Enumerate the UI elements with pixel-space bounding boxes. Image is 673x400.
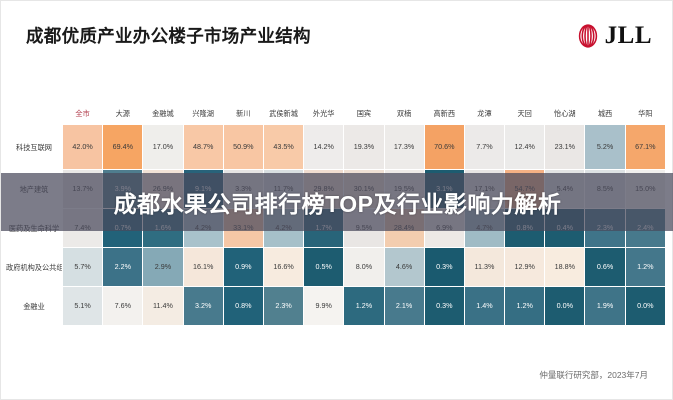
table-row: 金融业5.1%7.6%11.4%3.2%0.8%2.3%9.9%1.2%2.1%…	[6, 287, 665, 325]
heatmap-cell: 0.8%	[224, 287, 263, 325]
cell-value: 67.1%	[626, 143, 665, 150]
cell-value: 0.9%	[224, 263, 263, 270]
heatmap-cell: 7.6%	[103, 287, 142, 325]
heatmap-cell: 2.3%	[264, 287, 303, 325]
cell-value: 0.8%	[224, 302, 263, 309]
cell-value: 18.8%	[545, 263, 584, 270]
cell-value: 48.7%	[184, 143, 223, 150]
slide-header: 成都优质产业办公楼子市场产业结构 JLL	[1, 1, 673, 73]
cell-value: 42.0%	[63, 143, 102, 150]
heatmap-cell: 0.3%	[425, 248, 464, 286]
column-header-10: 龙潭	[465, 104, 504, 124]
heatmap-cell: 1.2%	[505, 287, 544, 325]
heatmap-cell: 11.3%	[465, 248, 504, 286]
heatmap-cell: 0.6%	[585, 248, 624, 286]
heatmap-cell: 2.9%	[143, 248, 182, 286]
cell-value: 70.6%	[425, 143, 464, 150]
cell-value: 43.5%	[264, 143, 303, 150]
column-header-11: 天回	[505, 104, 544, 124]
heatmap-cell: 67.1%	[626, 125, 665, 169]
heatmap-cell: 17.0%	[143, 125, 182, 169]
overlay-banner: 成都水果公司排行榜TOP及行业影响力解析	[1, 173, 673, 231]
column-header-9: 高新西	[425, 104, 464, 124]
cell-value: 17.3%	[385, 143, 424, 150]
heatmap-cell: 0.9%	[224, 248, 263, 286]
column-header-7: 国宾	[344, 104, 383, 124]
jll-logo: JLL	[576, 23, 652, 48]
column-header-8: 双楠	[385, 104, 424, 124]
heatmap-cell: 43.5%	[264, 125, 303, 169]
cell-value: 2.2%	[103, 263, 142, 270]
heatmap-cell: 2.1%	[385, 287, 424, 325]
heatmap-cell: 11.4%	[143, 287, 182, 325]
cell-value: 0.0%	[545, 302, 584, 309]
cell-value: 23.1%	[545, 143, 584, 150]
table-row: 政府机构及公共组织5.7%2.2%2.9%16.1%0.9%16.6%0.5%8…	[6, 248, 665, 286]
heatmap-cell: 2.2%	[103, 248, 142, 286]
cell-value: 3.2%	[184, 302, 223, 309]
heatmap-cell: 23.1%	[545, 125, 584, 169]
cell-value: 19.3%	[344, 143, 383, 150]
heatmap-cell: 69.4%	[103, 125, 142, 169]
heatmap-cell: 3.2%	[184, 287, 223, 325]
slide-root: 成都优质产业办公楼子市场产业结构 JLL 全市大源金融城兴隆湖新川武侯新城外光华…	[0, 0, 673, 400]
cell-value: 14.2%	[304, 143, 343, 150]
table-corner-cell	[6, 104, 62, 124]
cell-value: 7.6%	[103, 302, 142, 309]
cell-value: 0.3%	[425, 302, 464, 309]
column-header-1: 大源	[103, 104, 142, 124]
heatmap-cell: 48.7%	[184, 125, 223, 169]
heatmap-cell: 7.7%	[465, 125, 504, 169]
cell-value: 11.3%	[465, 263, 504, 270]
cell-value: 2.1%	[385, 302, 424, 309]
column-header-13: 城西	[585, 104, 624, 124]
cell-value: 17.0%	[143, 143, 182, 150]
heatmap-cell: 8.0%	[344, 248, 383, 286]
column-header-6: 外光华	[304, 104, 343, 124]
cell-value: 11.4%	[143, 302, 182, 309]
heatmap-cell: 17.3%	[385, 125, 424, 169]
column-header-5: 武侯新城	[264, 104, 303, 124]
page-title: 成都优质产业办公楼子市场产业结构	[26, 23, 311, 48]
heatmap-cell: 70.6%	[425, 125, 464, 169]
overlay-banner-text: 成都水果公司排行榜TOP及行业影响力解析	[1, 173, 673, 231]
heatmap-cell: 50.9%	[224, 125, 263, 169]
source-note: 仲量联行研究部，2023年7月	[539, 369, 648, 381]
heatmap-cell: 0.0%	[545, 287, 584, 325]
heatmap-cell: 1.4%	[465, 287, 504, 325]
cell-value: 1.4%	[465, 302, 504, 309]
column-header-3: 兴隆湖	[184, 104, 223, 124]
cell-value: 2.3%	[264, 302, 303, 309]
heatmap-cell: 16.1%	[184, 248, 223, 286]
cell-value: 8.0%	[344, 263, 383, 270]
cell-value: 1.2%	[626, 263, 665, 270]
heatmap-cell: 9.9%	[304, 287, 343, 325]
row-header-4: 金融业	[6, 287, 62, 325]
cell-value: 7.7%	[465, 143, 504, 150]
heatmap-cell: 1.2%	[344, 287, 383, 325]
heatmap-cell: 42.0%	[63, 125, 102, 169]
cell-value: 4.6%	[385, 263, 424, 270]
cell-value: 69.4%	[103, 143, 142, 150]
heatmap-cell: 4.6%	[385, 248, 424, 286]
cell-value: 12.4%	[505, 143, 544, 150]
heatmap-cell: 5.1%	[63, 287, 102, 325]
heatmap-cell: 16.6%	[264, 248, 303, 286]
cell-value: 16.1%	[184, 263, 223, 270]
cell-value: 0.3%	[425, 263, 464, 270]
jll-globe-icon	[576, 24, 600, 48]
cell-value: 0.0%	[626, 302, 665, 309]
column-header-2: 金融城	[143, 104, 182, 124]
heatmap-cell: 0.5%	[304, 248, 343, 286]
cell-value: 12.9%	[505, 263, 544, 270]
heatmap-cell: 0.3%	[425, 287, 464, 325]
column-header-14: 华阳	[626, 104, 665, 124]
jll-logo-text: JLL	[605, 23, 652, 48]
row-header-3: 政府机构及公共组织	[6, 248, 62, 286]
heatmap-cell: 14.2%	[304, 125, 343, 169]
heatmap-cell: 5.2%	[585, 125, 624, 169]
table-header-row: 全市大源金融城兴隆湖新川武侯新城外光华国宾双楠高新西龙潭天回怡心湖城西华阳	[6, 104, 665, 124]
cell-value: 50.9%	[224, 143, 263, 150]
cell-value: 16.6%	[264, 263, 303, 270]
heatmap-cell: 1.2%	[626, 248, 665, 286]
cell-value: 0.5%	[304, 263, 343, 270]
column-header-0: 全市	[63, 104, 102, 124]
table-row: 科技互联网42.0%69.4%17.0%48.7%50.9%43.5%14.2%…	[6, 125, 665, 169]
cell-value: 5.2%	[585, 143, 624, 150]
column-header-12: 怡心湖	[545, 104, 584, 124]
cell-value: 0.6%	[585, 263, 624, 270]
cell-value: 5.7%	[63, 263, 102, 270]
heatmap-cell: 0.0%	[626, 287, 665, 325]
cell-value: 1.2%	[505, 302, 544, 309]
heatmap-cell: 12.9%	[505, 248, 544, 286]
column-header-4: 新川	[224, 104, 263, 124]
heatmap-cell: 5.7%	[63, 248, 102, 286]
cell-value: 9.9%	[304, 302, 343, 309]
heatmap-cell: 18.8%	[545, 248, 584, 286]
cell-value: 2.9%	[143, 263, 182, 270]
cell-value: 1.9%	[585, 302, 624, 309]
heatmap-cell: 12.4%	[505, 125, 544, 169]
cell-value: 1.2%	[344, 302, 383, 309]
heatmap-cell: 1.9%	[585, 287, 624, 325]
row-header-0: 科技互联网	[6, 125, 62, 169]
heatmap-cell: 19.3%	[344, 125, 383, 169]
cell-value: 5.1%	[63, 302, 102, 309]
